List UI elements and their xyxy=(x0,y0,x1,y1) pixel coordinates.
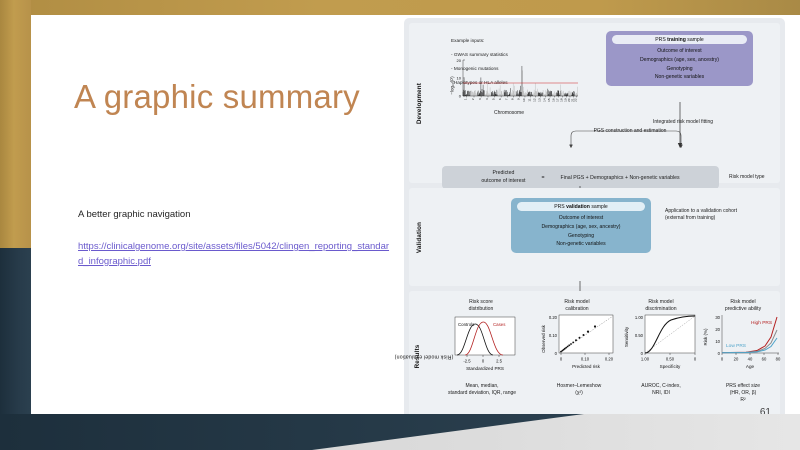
section-label-development-text: Development xyxy=(417,82,424,123)
section-development: Development Example inputs: - GWAS summa… xyxy=(409,23,780,183)
chart1-footer: Mean, median, standard deviation, IQR, r… xyxy=(431,383,533,397)
svg-text:11: 11 xyxy=(527,98,531,101)
section-label-results-text: Results (Risk model evaluation) xyxy=(414,327,427,386)
svg-text:0: 0 xyxy=(721,357,724,362)
chart3-discrimination: Sensitivity 1.00 0.50 0 1.00 0.50 0 Spec… xyxy=(621,313,703,375)
chart3-title-line2: discrimination xyxy=(621,306,701,313)
model-formula: Final PGS + Demographics + Non-genetic v… xyxy=(561,175,680,181)
chart4-footer: PRS effect size (HR, OR, β) R² xyxy=(701,383,785,404)
chart4-footer-line1: PRS effect size xyxy=(701,383,785,390)
chart3-title-line1: Risk model xyxy=(621,299,701,306)
prs-validation-title-prefix: PRS xyxy=(554,204,566,210)
chart3-footer-line1: AUROC, C-index, xyxy=(619,383,703,390)
navy-bottom-band xyxy=(0,414,800,450)
validation-cohort-note-line1: Application to a validation cohort xyxy=(665,208,775,215)
svg-text:20: 20 xyxy=(715,327,720,332)
manhattan-plot-svg: 20 10 0 12345678910111213141516171819202… xyxy=(452,58,579,110)
predicted-outcome-line1: Predicted xyxy=(481,170,525,177)
section-label-validation: Validation xyxy=(412,188,428,286)
svg-text:0: 0 xyxy=(560,357,563,362)
chart3-title: Risk model discrimination xyxy=(621,299,701,313)
equals-sign: = xyxy=(542,175,545,181)
svg-text:7: 7 xyxy=(504,98,508,100)
prs-validation-item: Outcome of interest xyxy=(517,214,645,223)
gold-left-bar xyxy=(0,0,31,252)
svg-text:Controls: Controls xyxy=(458,322,475,327)
page-title: A graphic summary xyxy=(74,78,404,116)
example-inputs-heading: Example inputs: xyxy=(451,37,508,44)
validation-cohort-note-line2: (external from training) xyxy=(665,215,775,222)
prs-validation-item: Genotyping xyxy=(517,232,645,241)
slide: A graphic summary A better graphic navig… xyxy=(0,0,800,450)
svg-text:Sensitivity: Sensitivity xyxy=(624,326,629,347)
chart4-footer-line3: R² xyxy=(701,397,785,404)
svg-text:5: 5 xyxy=(492,98,496,100)
svg-text:12: 12 xyxy=(533,98,537,102)
svg-text:0.20: 0.20 xyxy=(605,357,614,362)
svg-text:0: 0 xyxy=(555,351,558,356)
chart3-footer: AUROC, C-index, NRI, IDI xyxy=(619,383,703,397)
svg-text:2: 2 xyxy=(471,98,475,100)
predicted-outcome-label: Predicted outcome of interest xyxy=(481,170,525,184)
prs-validation-item: Non-genetic variables xyxy=(517,240,645,249)
section-label-development: Development xyxy=(412,23,428,183)
prs-training-item: Non-genetic variables xyxy=(612,73,747,82)
chart1-title: Risk score distribution xyxy=(439,299,523,313)
chart1-footer-line1: Mean, median, xyxy=(431,383,533,390)
svg-text:60: 60 xyxy=(762,357,767,362)
svg-text:15: 15 xyxy=(547,98,551,102)
reference-link-container: https://clinicalgenome.org/site/assets/f… xyxy=(78,240,393,269)
svg-text:80: 80 xyxy=(776,357,781,362)
svg-text:13: 13 xyxy=(538,98,542,102)
svg-text:0.50: 0.50 xyxy=(635,333,644,338)
svg-text:0.20: 0.20 xyxy=(549,315,558,320)
prs-training-item: Genotyping xyxy=(612,65,747,74)
chart4-predictive-ability: Risk (%) 30 20 10 0 High PRS Low PRS 0 2 xyxy=(701,313,785,375)
chart4-title: Risk model predictive ability xyxy=(701,299,785,313)
chart2-title-line2: calibration xyxy=(537,306,617,313)
svg-text:Low PRS: Low PRS xyxy=(726,343,746,349)
svg-text:20: 20 xyxy=(734,357,739,362)
svg-text:Age: Age xyxy=(746,364,755,369)
prs-training-title-bold: training xyxy=(667,37,686,43)
svg-text:3: 3 xyxy=(478,98,482,100)
svg-text:2.5: 2.5 xyxy=(496,359,502,364)
prs-training-title-suffix: sample xyxy=(686,37,704,43)
svg-text:0.50: 0.50 xyxy=(666,357,675,362)
prs-training-box: PRS training sample Outcome of interest … xyxy=(606,31,753,86)
chart2-footer-line2: (χ²) xyxy=(535,390,623,397)
svg-text:0: 0 xyxy=(694,357,697,362)
chart1-title-line2: distribution xyxy=(439,306,523,313)
predicted-outcome-line2: outcome of interest xyxy=(481,178,525,185)
svg-text:1: 1 xyxy=(464,98,468,100)
chart1-footer-line2: standard deviation, IQR, range xyxy=(431,390,533,397)
svg-text:10: 10 xyxy=(715,339,720,344)
prs-training-item: Demographics (age, sex, ancestry) xyxy=(612,56,747,65)
svg-text:0: 0 xyxy=(482,359,485,364)
svg-text:9: 9 xyxy=(516,98,520,100)
integrated-risk-model-fitting-label: Integrated risk model fitting xyxy=(623,119,743,126)
svg-text:0.10: 0.10 xyxy=(549,333,558,338)
svg-text:4: 4 xyxy=(485,98,489,100)
svg-text:0: 0 xyxy=(459,94,462,99)
svg-text:0.10: 0.10 xyxy=(581,357,590,362)
prs-validation-title: PRS validation sample xyxy=(517,202,645,211)
subtitle-text: A better graphic navigation xyxy=(78,208,398,222)
svg-text:6: 6 xyxy=(498,98,502,100)
svg-text:0: 0 xyxy=(718,351,721,356)
svg-text:1.00: 1.00 xyxy=(641,357,650,362)
svg-text:-2.5: -2.5 xyxy=(463,359,471,364)
chart1-title-line1: Risk score xyxy=(439,299,523,306)
section-label-results: Results (Risk model evaluation) xyxy=(412,291,428,421)
svg-text:Standardized PRS: Standardized PRS xyxy=(466,366,504,371)
chart4-title-line1: Risk model xyxy=(701,299,785,306)
prs-training-title: PRS training sample xyxy=(612,35,747,44)
svg-text:14: 14 xyxy=(542,98,546,102)
prs-training-title-prefix: PRS xyxy=(655,37,667,43)
svg-text:Risk (%): Risk (%) xyxy=(703,328,708,345)
svg-text:20: 20 xyxy=(457,58,462,63)
section-results: Results (Risk model evaluation) Risk sco… xyxy=(409,291,780,421)
gold-top-bar xyxy=(0,0,800,15)
section-validation: Validation PRS validation sample Outcome… xyxy=(409,188,780,286)
svg-text:Predicted risk: Predicted risk xyxy=(572,364,601,369)
chart4-footer-line2: (HR, OR, β) xyxy=(701,390,785,397)
pgs-construction-label: PGS construction and estimation xyxy=(570,128,690,135)
reference-link[interactable]: https://clinicalgenome.org/site/assets/f… xyxy=(78,241,389,267)
svg-text:30: 30 xyxy=(715,315,720,320)
svg-text:10: 10 xyxy=(522,98,526,102)
manhattan-plot: −log₁₀(P) 20 10 0 12345678910111213 xyxy=(439,58,579,120)
prs-validation-title-suffix: sample xyxy=(590,204,608,210)
svg-text:8: 8 xyxy=(510,98,514,100)
chart1-risk-score-distribution: Controls Cases -2.5 0 2.5 Standardized P… xyxy=(445,315,521,375)
prs-training-item: Outcome of interest xyxy=(612,47,747,56)
manhattan-xlabel: Chromosome xyxy=(439,110,579,116)
svg-text:40: 40 xyxy=(748,357,753,362)
prs-validation-title-bold: validation xyxy=(566,204,590,210)
svg-text:High PRS: High PRS xyxy=(751,320,772,326)
section-label-validation-text: Validation xyxy=(417,221,424,252)
svg-text:10: 10 xyxy=(457,76,462,81)
svg-text:1.00: 1.00 xyxy=(635,315,644,320)
infographic-panel: Development Example inputs: - GWAS summa… xyxy=(404,18,785,426)
risk-model-type-label: Risk model type xyxy=(729,174,765,181)
svg-text:0: 0 xyxy=(641,351,644,356)
prs-validation-item: Demographics (age, sex, ancestry) xyxy=(517,223,645,232)
chart2-calibration: Observed risk 0.20 0.10 0 0 xyxy=(537,313,621,375)
chart4-title-line2: predictive ability xyxy=(701,306,785,313)
chart2-title: Risk model calibration xyxy=(537,299,617,313)
chart2-title-line1: Risk model xyxy=(537,299,617,306)
svg-text:Observed risk: Observed risk xyxy=(541,324,546,353)
chart2-footer-line1: Hosmer–Lemeshow xyxy=(535,383,623,390)
prs-validation-box: PRS validation sample Outcome of interes… xyxy=(511,198,651,253)
validation-cohort-note: Application to a validation cohort (exte… xyxy=(665,208,775,223)
chart2-footer: Hosmer–Lemeshow (χ²) xyxy=(535,383,623,397)
navy-bottom-wedge xyxy=(0,414,800,450)
chart3-footer-line2: NRI, IDI xyxy=(619,390,703,397)
svg-text:Cases: Cases xyxy=(493,322,506,327)
svg-text:Specificity: Specificity xyxy=(660,364,681,369)
svg-text:22: 22 xyxy=(573,98,577,102)
